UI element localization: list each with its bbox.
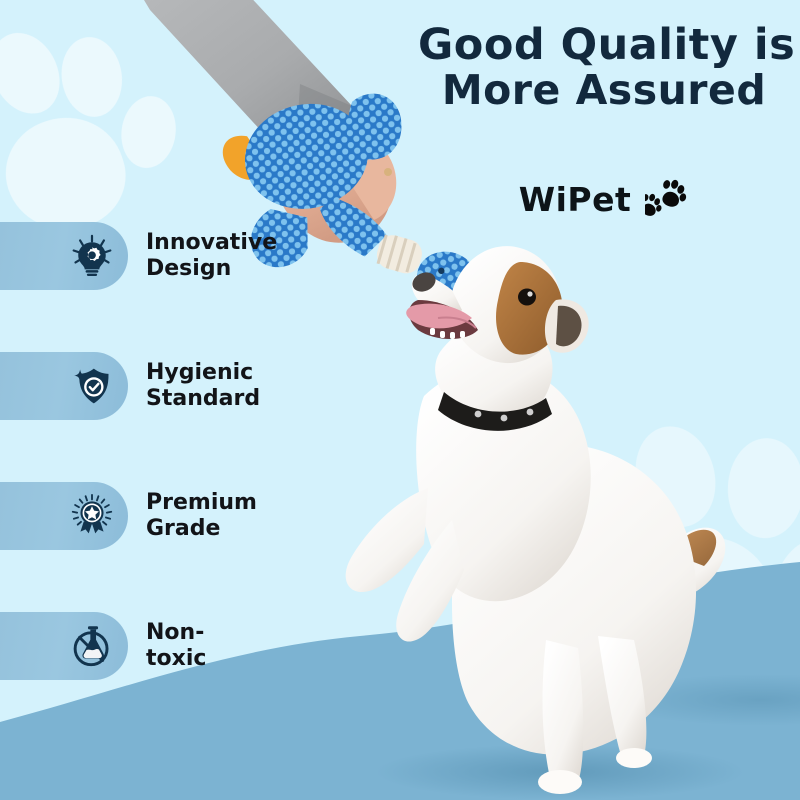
- brand-lockup: WiPet: [455, 178, 755, 220]
- brand-name: WiPet: [519, 180, 632, 219]
- feature-item-innovative-design[interactable]: Innovative Design: [0, 222, 360, 290]
- feature-item-premium-grade[interactable]: Premium Grade: [0, 482, 360, 550]
- no-toxic-flask-icon: [70, 624, 114, 668]
- feature-list: Innovative Design Hygienic Standard: [0, 222, 360, 680]
- feature-pill: [0, 612, 128, 680]
- feature-label: Premium Grade: [146, 490, 257, 541]
- headline-line-1: Good Quality is: [418, 22, 790, 68]
- lightbulb-gear-icon: [70, 234, 114, 278]
- feature-pill: [0, 352, 128, 420]
- feature-pill: [0, 482, 128, 550]
- feature-item-hygienic-standard[interactable]: Hygienic Standard: [0, 352, 360, 420]
- page-title: Good Quality is More Assured: [418, 22, 790, 113]
- feature-label: Non- toxic: [146, 620, 206, 671]
- shield-check-sparkle-icon: [70, 364, 114, 408]
- feature-label: Hygienic Standard: [146, 360, 260, 411]
- feature-item-non-toxic[interactable]: Non- toxic: [0, 612, 360, 680]
- headline-line-2: More Assured: [418, 68, 790, 112]
- product-poster: Good Quality is More Assured WiPet: [0, 0, 800, 800]
- feature-pill: [0, 222, 128, 290]
- feature-label: Innovative Design: [146, 230, 277, 281]
- paw-print-icon: [645, 178, 691, 220]
- award-rosette-star-icon: [70, 494, 114, 538]
